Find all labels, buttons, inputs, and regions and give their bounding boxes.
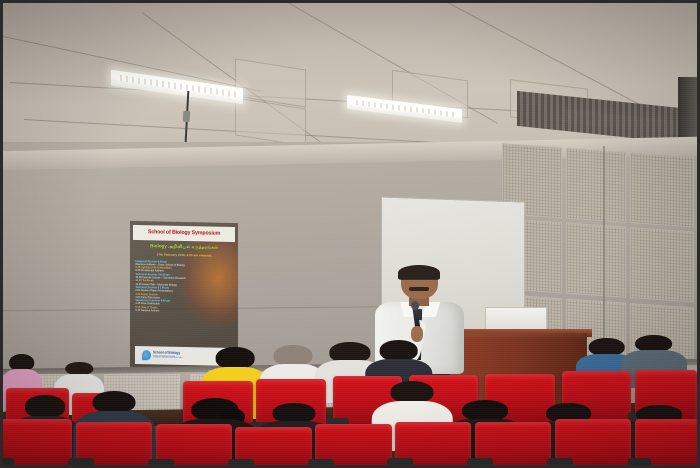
slide-program-list: Inaugural Session 9.00 amWelcome Address… (135, 260, 211, 314)
audience-head (25, 395, 65, 417)
audience-head (391, 381, 434, 403)
slide-title-box: School of Biology Symposium (133, 225, 235, 242)
audience-head (93, 391, 136, 413)
seat[interactable] (0, 419, 72, 468)
seat[interactable] (76, 422, 152, 468)
seat[interactable] (235, 427, 311, 468)
audience-head (462, 400, 508, 421)
audience-head (216, 347, 255, 369)
slide-program-row: 5.30 National Anthem (135, 309, 211, 314)
slide-title: School of Biology Symposium (148, 230, 220, 238)
seat[interactable] (156, 424, 232, 468)
seat[interactable] (555, 419, 631, 468)
presenter-moustache (409, 287, 429, 291)
seat[interactable] (635, 419, 700, 468)
audience-head (273, 403, 316, 423)
glasses-icon (402, 279, 438, 284)
seat[interactable] (395, 422, 471, 468)
audience-area (3, 345, 697, 465)
seat[interactable] (315, 424, 391, 468)
seat[interactable] (475, 422, 551, 468)
auditorium-photo: School of Biology Symposium Biology அறிவ… (0, 0, 700, 468)
